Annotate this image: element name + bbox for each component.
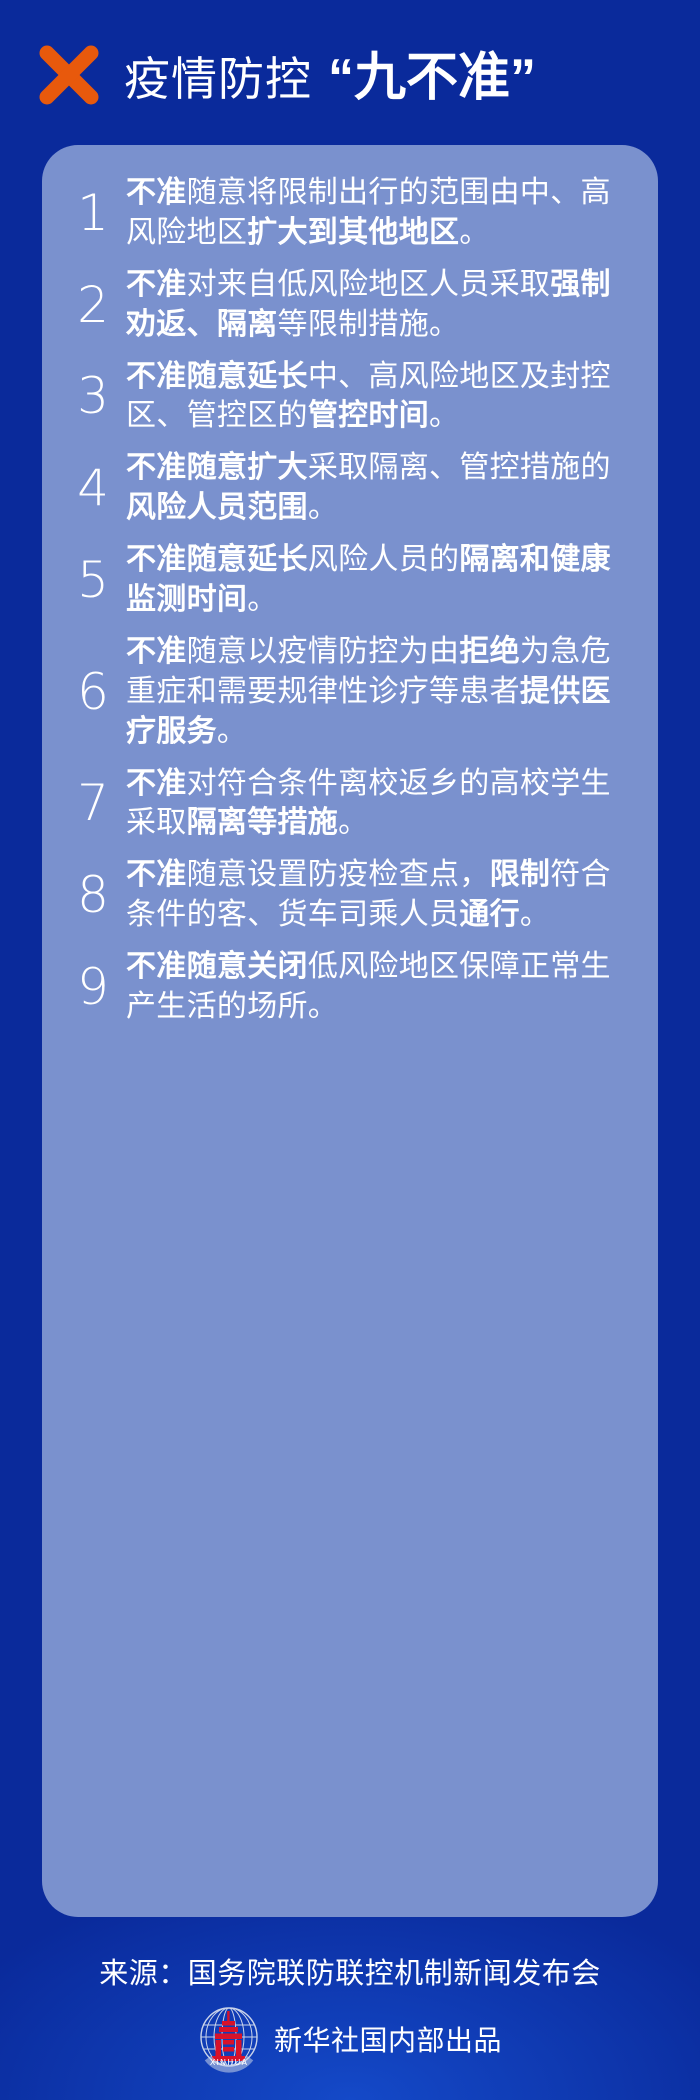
rule-item: 7不准对符合条件离校返乡的高校学生采取隔离等措施。	[60, 764, 632, 844]
rule-text: 不准随意延长中、高风险地区及封控区、管控区的管控时间。	[126, 357, 632, 437]
rule-text-emphasis: 拒绝	[459, 635, 520, 668]
rule-text: 不准对符合条件离校返乡的高校学生采取隔离等措施。	[126, 764, 632, 844]
xinhua-logo-icon: XINHUA	[198, 2005, 260, 2073]
rule-text-normal: 。	[429, 399, 459, 432]
page-title: 疫情防控 “九不准”	[124, 35, 536, 110]
rule-text-emphasis: 扩大到其他地区	[247, 216, 459, 249]
credit-text: 新华社国内部出品	[274, 2019, 502, 2059]
rule-text-normal: 采取隔离、管控措施的	[308, 451, 611, 484]
rules-list: 1不准随意将限制出行的范围由中、高风险地区扩大到其他地区。2不准对来自低风险地区…	[60, 173, 632, 1027]
rule-text: 不准随意扩大采取隔离、管控措施的风险人员范围。	[126, 448, 632, 528]
rule-item: 2不准对来自低风险地区人员采取强制劝返、隔离等限制措施。	[60, 265, 632, 345]
rule-text-emphasis: 不准随意关闭	[126, 950, 308, 983]
rule-text-normal: 。	[338, 806, 368, 839]
rule-number: 8	[60, 870, 126, 920]
rule-item: 4不准随意扩大采取隔离、管控措施的风险人员范围。	[60, 448, 632, 528]
rule-number: 9	[60, 962, 126, 1012]
rule-text-emphasis: 不准	[126, 858, 187, 891]
rule-text: 不准对来自低风险地区人员采取强制劝返、隔离等限制措施。	[126, 265, 632, 345]
rule-item: 6不准随意以疫情防控为由拒绝为急危重症和需要规律性诊疗等患者提供医疗服务。	[60, 632, 632, 752]
rule-text-emphasis: 不准随意延长	[126, 543, 308, 576]
rule-text: 不准随意延长风险人员的隔离和健康监测时间。	[126, 540, 632, 620]
rule-text-normal: 风险人员的	[308, 543, 460, 576]
rule-text-normal: 。	[308, 491, 338, 524]
rule-item: 1不准随意将限制出行的范围由中、高风险地区扩大到其他地区。	[60, 173, 632, 253]
rule-text-emphasis: 不准	[126, 176, 187, 209]
credit-row: XINHUA 新华社国内部出品	[0, 2005, 700, 2073]
rule-text-emphasis: 不准随意延长	[126, 360, 308, 393]
rule-number: 6	[60, 667, 126, 717]
source-text: 来源：国务院联防联控机制新闻发布会	[0, 1950, 700, 1992]
header: 疫情防控 “九不准”	[0, 0, 700, 145]
rule-text-emphasis: 不准	[126, 767, 187, 800]
rule-text-emphasis: 不准	[126, 635, 187, 668]
rule-text: 不准随意设置防疫检查点，限制符合条件的客、货车司乘人员通行。	[126, 855, 632, 935]
rule-item: 3不准随意延长中、高风险地区及封控区、管控区的管控时间。	[60, 357, 632, 437]
rule-text-emphasis: 通行	[459, 898, 520, 931]
rule-item: 9不准随意关闭低风险地区保障正常生产生活的场所。	[60, 947, 632, 1027]
svg-text:XINHUA: XINHUA	[210, 2058, 248, 2067]
rule-item: 8不准随意设置防疫检查点，限制符合条件的客、货车司乘人员通行。	[60, 855, 632, 935]
title-main-text: 疫情防控	[124, 43, 312, 109]
cross-x-icon	[38, 44, 100, 106]
rule-text: 不准随意将限制出行的范围由中、高风险地区扩大到其他地区。	[126, 173, 632, 253]
rule-text-normal: 随意以疫情防控为由	[187, 635, 460, 668]
rule-text-emphasis: 隔离等措施	[187, 806, 339, 839]
rule-text-normal: 等限制措施。	[278, 308, 460, 341]
rule-text-emphasis: 不准	[126, 268, 187, 301]
rule-text-normal: 对来自低风险地区人员采取	[187, 268, 551, 301]
rule-text-normal: 随意设置防疫检查点，	[187, 858, 490, 891]
rule-number: 7	[60, 778, 126, 828]
title-quote-text: “九不准”	[328, 35, 536, 110]
rule-text: 不准随意关闭低风险地区保障正常生产生活的场所。	[126, 947, 632, 1027]
rules-card: 1不准随意将限制出行的范围由中、高风险地区扩大到其他地区。2不准对来自低风险地区…	[42, 145, 658, 1917]
rule-text-normal: 。	[459, 216, 489, 249]
rule-number: 3	[60, 371, 126, 421]
rule-text-emphasis: 管控时间	[308, 399, 429, 432]
rule-number: 5	[60, 555, 126, 605]
rule-text-normal: 。	[247, 583, 277, 616]
rule-text-normal: 。	[520, 898, 550, 931]
footer: 来源：国务院联防联控机制新闻发布会	[0, 1917, 700, 2100]
rule-text-emphasis: 限制	[490, 858, 551, 891]
rule-text-emphasis: 不准随意扩大	[126, 451, 308, 484]
rule-text-emphasis: 风险人员范围	[126, 491, 308, 524]
rule-item: 5不准随意延长风险人员的隔离和健康监测时间。	[60, 540, 632, 620]
poster-root: 疫情防控 “九不准” 1不准随意将限制出行的范围由中、高风险地区扩大到其他地区。…	[0, 0, 700, 2100]
rule-number: 1	[60, 188, 126, 238]
rule-number: 2	[60, 280, 126, 330]
rule-text-normal: 。	[217, 715, 247, 748]
rule-number: 4	[60, 463, 126, 513]
rule-text: 不准随意以疫情防控为由拒绝为急危重症和需要规律性诊疗等患者提供医疗服务。	[126, 632, 632, 752]
